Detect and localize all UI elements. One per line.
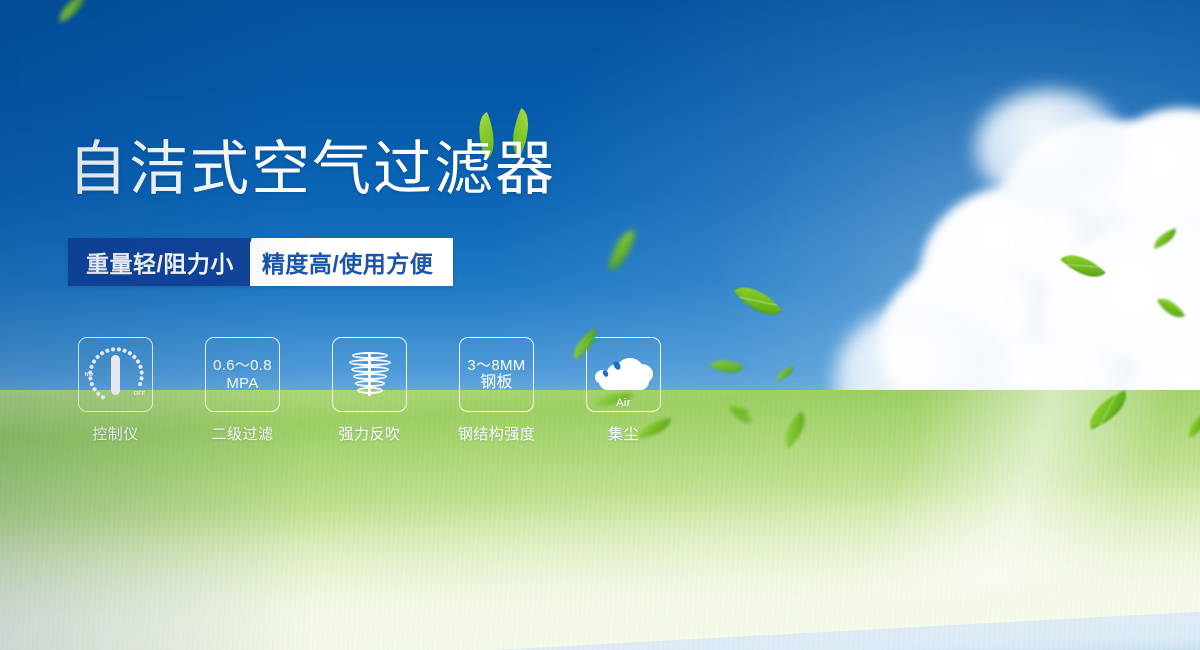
coil-blowback-icon <box>332 337 407 412</box>
feature-label: 钢结构强度 <box>458 423 536 444</box>
feature-item-control-dial[interactable]: NO OFF 控制仪 <box>78 337 153 444</box>
steel-thickness-value: 3～8MM <box>467 357 525 374</box>
feature-item-steel-plate[interactable]: 3～8MM 钢板 钢结构强度 <box>459 337 534 444</box>
subtitle-band: 重量轻/阻力小 精度高/使用方便 <box>68 238 453 286</box>
feature-item-pressure[interactable]: 0.6～0.8 MPA 二级过滤 <box>205 337 280 444</box>
feature-icon-row: NO OFF 控制仪 0.6～0.8 MPA 二级过滤 <box>78 337 661 444</box>
hero-banner: 自洁式空气过滤器 重量轻/阻力小 精度高/使用方便 <box>0 0 1200 650</box>
air-label: Air <box>595 397 653 409</box>
feature-label: 强力反吹 <box>338 423 400 444</box>
feature-item-blowback[interactable]: 强力反吹 <box>332 337 407 444</box>
page-title: 自洁式空气过滤器 <box>68 140 556 199</box>
subtitle-right-panel: 精度高/使用方便 <box>236 238 453 286</box>
dial-graphic: NO OFF <box>85 346 147 404</box>
feature-label: 集尘 <box>608 423 639 444</box>
dial-needle <box>111 355 120 395</box>
feature-label: 二级过滤 <box>211 423 273 444</box>
steel-plate-text-icon: 3～8MM 钢板 <box>459 337 534 412</box>
feature-item-dust-collection[interactable]: Air 集尘 <box>586 337 661 444</box>
pressure-range-value: 0.6～0.8 <box>213 357 272 374</box>
pressure-text-icon: 0.6～0.8 MPA <box>205 337 280 412</box>
feature-label: 控制仪 <box>92 423 139 444</box>
coil-graphic <box>346 350 394 400</box>
steel-material-value: 钢板 <box>480 374 513 393</box>
subtitle-left-panel: 重量轻/阻力小 <box>68 238 250 286</box>
pressure-unit-value: MPA <box>226 375 258 392</box>
air-cloud-icon: Air <box>586 337 661 412</box>
dial-label-off: OFF <box>134 391 146 397</box>
control-dial-icon: NO OFF <box>78 337 153 412</box>
air-cloud-graphic: Air <box>595 354 653 396</box>
dial-label-no: NO <box>85 372 94 378</box>
